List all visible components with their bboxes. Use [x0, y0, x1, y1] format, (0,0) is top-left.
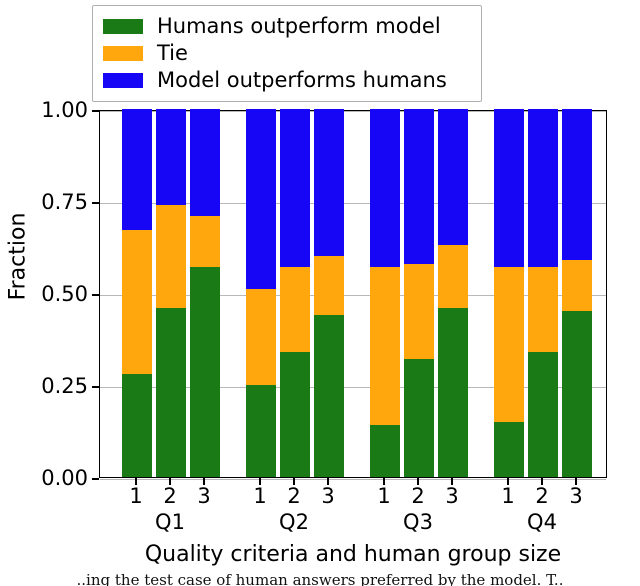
y-tick-mark-0.50 — [92, 294, 99, 296]
bar-segment-Q1-1-humans-outperform-model[interactable] — [122, 374, 152, 477]
y-tick-label-0.00: 0.00 — [10, 468, 88, 489]
y-tick-label-0.50: 0.50 — [10, 284, 88, 305]
bar-segment-Q1-2-tie[interactable] — [156, 205, 186, 308]
bar-Q2-2[interactable] — [280, 109, 310, 477]
plot-area-frame — [99, 110, 607, 478]
y-tick-label-0.75: 0.75 — [10, 192, 88, 213]
y-tick-mark-0.00 — [92, 478, 99, 480]
legend-swatch-blue — [103, 73, 143, 88]
bar-segment-Q2-1-tie[interactable] — [246, 289, 276, 385]
bar-segment-Q3-2-tie[interactable] — [404, 264, 434, 360]
bar-segment-Q1-3-tie[interactable] — [190, 216, 220, 268]
x-group-label-Q3: Q3 — [378, 512, 458, 533]
bar-segment-Q3-3-humans-outperform-model[interactable] — [438, 308, 468, 477]
plot-area — [100, 111, 606, 477]
bar-segment-Q2-1-humans-outperform-model[interactable] — [246, 385, 276, 477]
chart-figure: Humans outperform model Tie Model outper… — [0, 0, 640, 586]
bar-segment-Q1-1-tie[interactable] — [122, 230, 152, 374]
bar-segment-Q4-2-model-outperforms-humans[interactable] — [528, 109, 558, 267]
legend-item-model-outperforms-humans: Model outperforms humans — [103, 67, 471, 94]
legend-item-humans-outperform-model: Humans outperform model — [103, 13, 471, 40]
x-axis-label: Quality criteria and human group size — [99, 543, 607, 567]
bar-Q1-1[interactable] — [122, 109, 152, 477]
y-tick-label-0.25: 0.25 — [10, 376, 88, 397]
y-tick-mark-1.00 — [92, 110, 99, 112]
bar-segment-Q1-3-humans-outperform-model[interactable] — [190, 267, 220, 477]
bar-segment-Q3-2-model-outperforms-humans[interactable] — [404, 109, 434, 264]
bar-Q4-1[interactable] — [494, 109, 524, 477]
bar-Q3-2[interactable] — [404, 109, 434, 477]
x-axis-tick-labels: 123123123123 — [99, 486, 607, 512]
bar-segment-Q3-3-model-outperforms-humans[interactable] — [438, 109, 468, 245]
bar-segment-Q4-3-tie[interactable] — [562, 260, 592, 312]
x-group-label-Q1: Q1 — [130, 512, 210, 533]
bar-segment-Q2-1-model-outperforms-humans[interactable] — [246, 109, 276, 289]
bar-segment-Q3-2-humans-outperform-model[interactable] — [404, 359, 434, 477]
bar-segment-Q2-2-humans-outperform-model[interactable] — [280, 352, 310, 477]
y-tick-mark-0.75 — [92, 202, 99, 204]
x-tick-label-Q1-3: 3 — [184, 486, 224, 507]
bar-segment-Q4-1-humans-outperform-model[interactable] — [494, 422, 524, 477]
bar-segment-Q1-1-model-outperforms-humans[interactable] — [122, 109, 152, 230]
legend-label-tie: Tie — [157, 43, 188, 64]
y-axis-tick-marks — [92, 110, 99, 478]
bar-segment-Q4-3-model-outperforms-humans[interactable] — [562, 109, 592, 260]
bar-segment-Q1-2-model-outperforms-humans[interactable] — [156, 109, 186, 205]
bar-segment-Q2-3-humans-outperform-model[interactable] — [314, 315, 344, 477]
legend-item-tie: Tie — [103, 40, 471, 67]
bar-Q3-1[interactable] — [370, 109, 400, 477]
bar-segment-Q4-2-humans-outperform-model[interactable] — [528, 352, 558, 477]
bar-segment-Q2-2-model-outperforms-humans[interactable] — [280, 109, 310, 267]
x-group-label-Q4: Q4 — [502, 512, 582, 533]
bar-segment-Q3-1-tie[interactable] — [370, 267, 400, 425]
bar-segment-Q4-1-model-outperforms-humans[interactable] — [494, 109, 524, 267]
x-tick-label-Q3-3: 3 — [432, 486, 472, 507]
bar-segment-Q3-3-tie[interactable] — [438, 245, 468, 308]
bar-Q1-2[interactable] — [156, 109, 186, 477]
bar-Q4-3[interactable] — [562, 109, 592, 477]
bar-segment-Q1-2-humans-outperform-model[interactable] — [156, 308, 186, 477]
bar-segment-Q2-3-model-outperforms-humans[interactable] — [314, 109, 344, 256]
figure-caption: ..ing the test case of human answers pre… — [0, 572, 640, 586]
legend-label-humans-outperform-model: Humans outperform model — [157, 16, 441, 37]
bar-segment-Q4-1-tie[interactable] — [494, 267, 524, 422]
bar-segment-Q2-2-tie[interactable] — [280, 267, 310, 352]
y-tick-mark-0.25 — [92, 386, 99, 388]
bar-Q3-3[interactable] — [438, 109, 468, 477]
bar-segment-Q2-3-tie[interactable] — [314, 256, 344, 315]
x-axis-group-labels: Q1Q2Q3Q4 — [99, 512, 607, 540]
legend-swatch-orange — [103, 46, 143, 61]
bar-segment-Q3-1-humans-outperform-model[interactable] — [370, 425, 400, 477]
bar-Q4-2[interactable] — [528, 109, 558, 477]
bar-segment-Q4-3-humans-outperform-model[interactable] — [562, 311, 592, 477]
bar-segment-Q4-2-tie[interactable] — [528, 267, 558, 352]
bar-segment-Q3-1-model-outperforms-humans[interactable] — [370, 109, 400, 267]
x-tick-label-Q4-3: 3 — [556, 486, 596, 507]
bar-Q1-3[interactable] — [190, 109, 220, 477]
chart-legend: Humans outperform model Tie Model outper… — [92, 5, 482, 102]
y-tick-label-1.00: 1.00 — [10, 100, 88, 121]
y-axis-tick-labels: 0.000.250.500.751.00 — [4, 110, 88, 478]
bar-Q2-3[interactable] — [314, 109, 344, 477]
x-group-label-Q2: Q2 — [254, 512, 334, 533]
bar-segment-Q1-3-model-outperforms-humans[interactable] — [190, 109, 220, 216]
x-tick-label-Q2-3: 3 — [308, 486, 348, 507]
legend-label-model-outperforms-humans: Model outperforms humans — [157, 70, 447, 91]
bar-Q2-1[interactable] — [246, 109, 276, 477]
legend-swatch-green — [103, 19, 143, 34]
